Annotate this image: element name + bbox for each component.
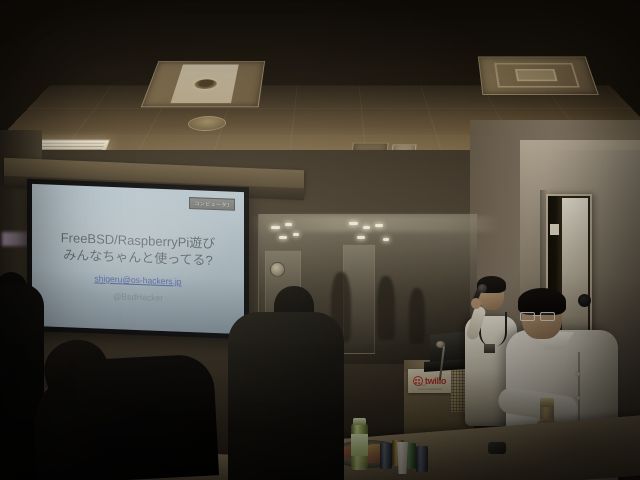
photo-scene: コンピュータ1 FreeBSD/RaspberryPi遊び みんなちゃんと使って… bbox=[0, 0, 640, 480]
corridor-light bbox=[285, 223, 292, 226]
hvac-diffuser-vent bbox=[478, 57, 599, 95]
shirt-button bbox=[576, 396, 580, 400]
green-tea-bottle-cap bbox=[353, 418, 366, 425]
projection-screen: コンピュータ1 FreeBSD/RaspberryPi遊び みんなちゃんと使って… bbox=[27, 179, 249, 340]
door-porthole-window bbox=[578, 294, 591, 307]
presenter-name-badge bbox=[484, 344, 495, 353]
corridor-light bbox=[363, 226, 370, 229]
second-man-glasses-icon bbox=[520, 312, 556, 319]
corridor-light bbox=[349, 222, 358, 225]
slide-social-handle: @BsdHacker bbox=[32, 288, 244, 306]
twilio-sign: twilio cloud communications bbox=[408, 369, 451, 393]
corridor-light bbox=[383, 238, 389, 241]
glasses-right-lens bbox=[540, 312, 555, 321]
far-person-silhouette bbox=[377, 276, 395, 340]
far-person-silhouette bbox=[409, 288, 425, 344]
shirt-button bbox=[576, 372, 580, 376]
wall-clock-icon bbox=[270, 262, 285, 277]
held-bottle-cap bbox=[540, 398, 554, 407]
corridor-light bbox=[357, 236, 365, 239]
corridor-light bbox=[271, 226, 280, 229]
door-sign bbox=[550, 224, 559, 235]
handheld-microphone-head bbox=[478, 284, 487, 293]
glasses-left-lens bbox=[520, 312, 535, 321]
corridor-light bbox=[375, 224, 383, 227]
microphone-icon bbox=[436, 341, 445, 348]
twilio-tagline: cloud communications bbox=[418, 383, 451, 391]
beverage-can bbox=[416, 446, 428, 472]
glasses-bridge bbox=[533, 315, 540, 316]
attendee-body bbox=[228, 312, 344, 480]
slide-badge: コンピュータ1 bbox=[189, 197, 235, 211]
projector-ceiling-tile bbox=[141, 61, 265, 107]
corridor-light bbox=[279, 236, 287, 239]
corridor-light bbox=[293, 233, 299, 236]
second-man-hair bbox=[518, 288, 566, 315]
slide-email-link[interactable]: shigeru@os-hackers.jp bbox=[94, 273, 181, 286]
table-object bbox=[488, 442, 506, 454]
green-tea-bottle-label bbox=[351, 434, 368, 456]
beverage-can bbox=[380, 443, 392, 469]
slide-surface: コンピュータ1 FreeBSD/RaspberryPi遊び みんなちゃんと使って… bbox=[32, 184, 244, 334]
presenter-hand bbox=[471, 298, 481, 309]
slide-content: FreeBSD/RaspberryPi遊び みんなちゃんと使ってる? shige… bbox=[32, 228, 244, 306]
